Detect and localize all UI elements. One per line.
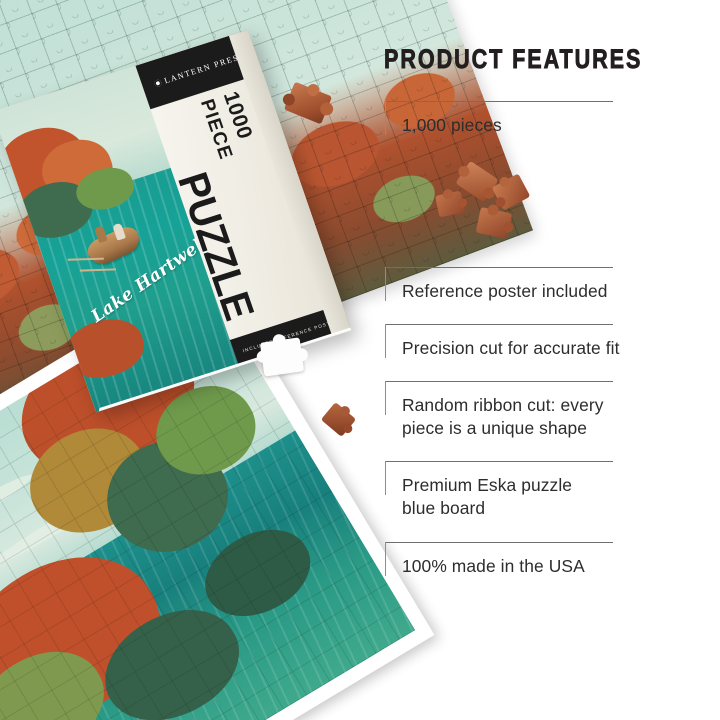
divider-tick: [385, 267, 386, 301]
divider: [385, 461, 613, 462]
feature-label: Precision cut for accurate fit: [402, 337, 714, 360]
divider: [385, 101, 613, 102]
feature-item-board: Premium Eska puzzle blue board: [384, 461, 714, 520]
loose-puzzle-piece-blank: [260, 337, 304, 376]
feature-label: 1,000 pieces: [402, 114, 714, 137]
page-title: PRODUCT FEATURES: [384, 44, 648, 75]
loose-puzzle-piece: [321, 402, 356, 437]
feature-item-poster: Reference poster included: [384, 267, 714, 303]
divider-tick: [385, 461, 386, 495]
divider: [385, 542, 613, 543]
divider-tick: [385, 381, 386, 415]
divider: [385, 267, 613, 268]
divider-tick: [385, 101, 386, 135]
feature-label: Reference poster included: [402, 280, 714, 303]
divider-tick: [385, 324, 386, 358]
product-feature-graphic: Lake Hartwell LANTERN PRESS 1000 PIECE P…: [0, 0, 720, 720]
feature-item-ribbon-cut: Random ribbon cut: every piece is a uniq…: [384, 381, 714, 440]
lantern-press-logo-icon: [153, 79, 162, 88]
brand-name: LANTERN PRESS: [163, 51, 246, 85]
divider: [385, 381, 613, 382]
feature-item-piece-count: 1,000 pieces: [384, 101, 714, 137]
feature-label: 100% made in the USA: [402, 555, 714, 578]
product-features-panel: PRODUCT FEATURES 1,000 pieces Reference …: [384, 44, 714, 578]
divider-tick: [385, 542, 386, 576]
divider: [385, 324, 613, 325]
feature-item-precision-cut: Precision cut for accurate fit: [384, 324, 714, 360]
feature-item-made-in-usa: 100% made in the USA: [384, 542, 714, 578]
feature-label: Premium Eska puzzle blue board: [402, 474, 714, 520]
feature-label: Random ribbon cut: every piece is a uniq…: [402, 394, 714, 440]
